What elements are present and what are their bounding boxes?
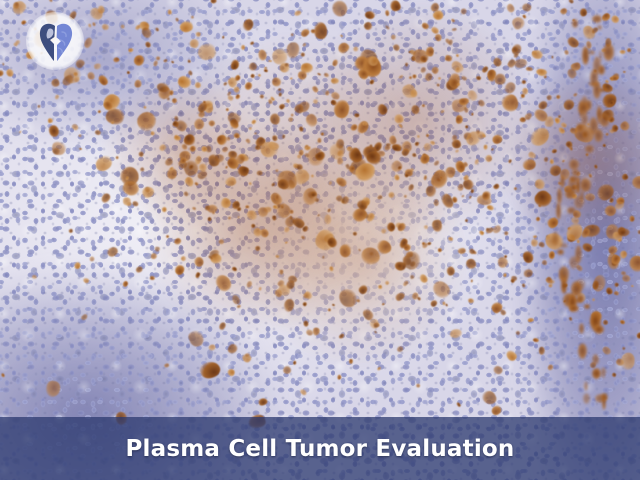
- dab-positive-cell: [303, 320, 309, 326]
- stained-vessel-segment: [569, 256, 579, 268]
- stained-vessel-segment: [570, 177, 575, 182]
- dab-positive-cell: [322, 256, 324, 259]
- dab-positive-cell: [475, 75, 481, 80]
- dab-positive-cell: [73, 262, 80, 269]
- dab-positive-cell: [143, 106, 146, 109]
- dab-positive-cell: [337, 157, 343, 164]
- stained-vessel-segment: [592, 354, 599, 365]
- dab-positive-cell: [620, 49, 626, 53]
- dab-positive-cell: [405, 62, 408, 66]
- stained-vessel-segment: [576, 123, 584, 133]
- dab-positive-cell: [352, 46, 358, 51]
- dab-positive-cell: [464, 219, 467, 222]
- dab-positive-cell: [623, 71, 626, 73]
- dab-positive-cell: [289, 210, 293, 214]
- dab-positive-cell: [157, 83, 169, 93]
- stained-vessel-segment: [583, 393, 590, 404]
- screenshot-root: Plasma Cell Tumor Evaluation: [0, 0, 640, 480]
- stained-vessel-segment: [576, 178, 580, 195]
- stained-vessel-segment: [594, 129, 603, 142]
- stained-vessel-segment: [594, 325, 604, 334]
- dab-positive-cell: [79, 147, 82, 150]
- dab-positive-cell: [456, 114, 463, 123]
- stained-vessel-segment: [582, 131, 588, 138]
- dab-positive-cell: [632, 175, 640, 188]
- split-heart-face-logo-icon: [34, 20, 78, 64]
- dab-positive-cell: [619, 319, 625, 324]
- dab-positive-cell: [330, 78, 338, 84]
- dab-positive-cell: [155, 56, 160, 61]
- dab-positive-cell: [504, 231, 508, 235]
- dab-positive-cell: [196, 32, 201, 37]
- stained-vessel-segment: [585, 145, 594, 153]
- dab-positive-cell: [337, 374, 341, 379]
- dab-positive-cell: [254, 131, 257, 134]
- dab-positive-cell: [279, 270, 283, 275]
- dab-positive-cell: [503, 272, 507, 276]
- dab-positive-cell: [268, 59, 272, 61]
- dab-positive-cell: [577, 240, 580, 244]
- stained-vessel-segment: [569, 305, 579, 312]
- dab-positive-cell: [627, 48, 631, 52]
- dab-positive-cell: [610, 77, 613, 80]
- stained-vessel-segment: [593, 56, 601, 75]
- stained-vessel-segment: [561, 278, 567, 294]
- dab-positive-cell: [5, 68, 13, 77]
- dab-positive-cell: [413, 75, 417, 79]
- dab-positive-cell: [483, 144, 488, 150]
- dab-positive-cell: [274, 195, 278, 201]
- stained-vessel-segment: [552, 231, 559, 246]
- dab-positive-cell: [244, 352, 250, 357]
- stained-vessel-segment: [559, 243, 567, 249]
- dab-positive-cell: [272, 215, 276, 220]
- stained-vessel-segment: [578, 343, 587, 359]
- caption-bar: Plasma Cell Tumor Evaluation: [0, 417, 640, 480]
- dab-positive-cell: [411, 152, 416, 157]
- dab-positive-cell: [471, 112, 473, 115]
- dab-positive-cell: [526, 66, 533, 71]
- dab-positive-cell: [127, 47, 133, 52]
- dab-positive-cell: [431, 219, 442, 232]
- dab-positive-cell: [284, 62, 289, 67]
- stained-vessel-segment: [597, 25, 602, 29]
- histology-micrograph: [0, 0, 640, 480]
- dab-positive-cell: [285, 99, 289, 104]
- dab-positive-cell: [317, 138, 321, 143]
- stained-vessel-segment: [578, 101, 589, 114]
- dab-positive-cell: [631, 285, 634, 287]
- dab-positive-cell: [93, 63, 101, 69]
- dab-positive-cell: [349, 359, 353, 364]
- dab-positive-cell: [468, 298, 474, 303]
- dab-positive-cell: [122, 197, 131, 205]
- stained-vessel-segment: [567, 207, 576, 214]
- dab-positive-cell: [423, 225, 427, 230]
- dab-positive-cell: [434, 199, 439, 206]
- caption-title: Plasma Cell Tumor Evaluation: [125, 436, 514, 462]
- dab-positive-cell: [150, 252, 156, 259]
- stained-vessel-segment: [556, 202, 561, 220]
- dab-positive-cell: [458, 247, 466, 253]
- dab-positive-cell: [552, 149, 557, 153]
- dab-positive-cell: [202, 101, 206, 105]
- stained-vessel-segment: [577, 295, 584, 303]
- stained-vessel-segment: [584, 381, 588, 391]
- dab-positive-cell: [155, 246, 160, 252]
- stained-vessel-segment: [601, 367, 606, 378]
- dab-positive-cell: [275, 254, 279, 258]
- dab-positive-cell: [465, 258, 477, 270]
- dab-positive-cell: [313, 99, 318, 104]
- dab-positive-cell: [605, 132, 608, 135]
- dab-positive-cell: [225, 107, 229, 111]
- dab-positive-cell: [111, 121, 114, 124]
- stained-vessel-segment: [601, 393, 609, 401]
- dab-positive-cell: [293, 360, 296, 364]
- stained-vessel-segment: [603, 43, 615, 60]
- dab-positive-cell: [415, 142, 419, 146]
- dab-positive-cell: [613, 290, 618, 295]
- dab-positive-cell: [511, 276, 517, 282]
- dab-positive-cell: [469, 195, 472, 198]
- stained-vessel-segment: [592, 368, 600, 380]
- stained-vessel-segment: [582, 46, 589, 64]
- dab-positive-cell: [188, 60, 191, 63]
- dab-positive-cell: [438, 248, 442, 252]
- dab-positive-cell: [339, 244, 351, 257]
